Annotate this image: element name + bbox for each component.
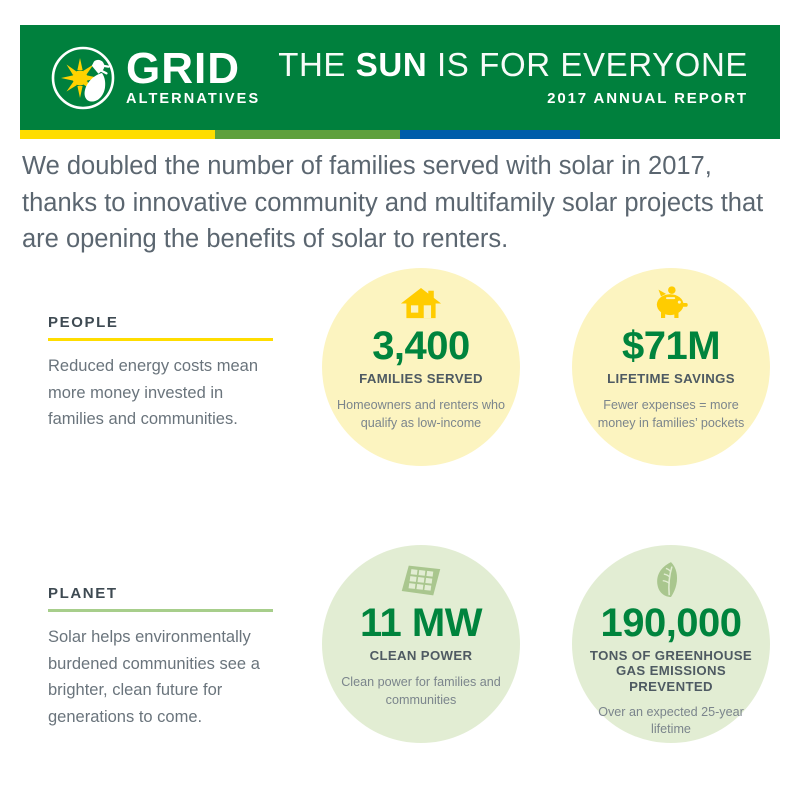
section-people-body: Reduced energy costs mean more money inv… [48,353,273,433]
section-people: PEOPLE Reduced energy costs mean more mo… [48,314,273,433]
section-planet-label: PLANET [48,585,273,602]
stat-description-families: Homeowners and renters who qualify as lo… [337,397,505,433]
accent-segment-blue [400,130,580,139]
stat-card-clean-power: 11 MW CLEAN POWER Clean power for famili… [322,545,520,743]
report-headline: THE SUN IS FOR EVERYONE [278,48,748,83]
intro-paragraph: We doubled the number of families served… [22,148,767,258]
stat-card-lifetime-savings: $71M LIFETIME SAVINGS Fewer expenses = m… [572,268,770,466]
accent-segment-darkgreen [580,130,780,139]
logo-wordmark-primary: GRID [126,48,260,90]
section-people-rule [48,338,273,341]
logo-wordmark-secondary: ALTERNATIVES [126,92,260,107]
house-icon [400,282,442,324]
section-planet: PLANET Solar helps environmentally burde… [48,585,273,731]
stat-card-families-served: 3,400 FAMILIES SERVED Homeowners and ren… [322,268,520,466]
headline-part-1: THE [278,46,356,83]
stat-caption-families: FAMILIES SERVED [359,371,483,387]
report-header: GRID ALTERNATIVES THE SUN IS FOR EVERYON… [20,25,780,130]
stat-description-savings: Fewer expenses = more money in families’… [587,397,755,433]
stat-number-tons: 190,000 [600,603,741,644]
section-people-label: PEOPLE [48,314,273,331]
headline-emphasis-sun: SUN [356,46,427,83]
grid-alternatives-sun-leaf-plug-logo-icon [50,45,116,111]
brand-logo: GRID ALTERNATIVES [20,45,278,111]
section-planet-rule [48,609,273,612]
stat-number-savings: $71M [622,326,720,367]
stat-description-power: Clean power for families and communities [337,674,505,710]
stat-number-power: 11 MW [360,603,482,644]
accent-color-bar [20,130,780,139]
stat-caption-tons: TONS OF GREENHOUSE GAS EMISSIONS PREVENT… [584,648,759,695]
section-planet-body: Solar helps environmentally burdened com… [48,624,273,731]
stat-number-families: 3,400 [372,326,470,367]
accent-segment-green [215,130,400,139]
piggy-bank-icon [651,282,691,324]
stat-caption-power: CLEAN POWER [370,648,473,664]
report-subtitle: 2017 ANNUAL REPORT [278,90,748,107]
stat-card-emissions-prevented: 190,000 TONS OF GREENHOUSE GAS EMISSIONS… [572,545,770,743]
accent-segment-yellow [20,130,215,139]
leaf-icon [654,559,688,601]
stat-description-tons: Over an expected 25-year lifetime [587,704,755,740]
solar-panel-icon [400,559,442,601]
header-title-block: THE SUN IS FOR EVERYONE 2017 ANNUAL REPO… [278,48,780,107]
headline-part-2: IS FOR EVERYONE [427,46,748,83]
stat-caption-savings: LIFETIME SAVINGS [607,371,735,387]
